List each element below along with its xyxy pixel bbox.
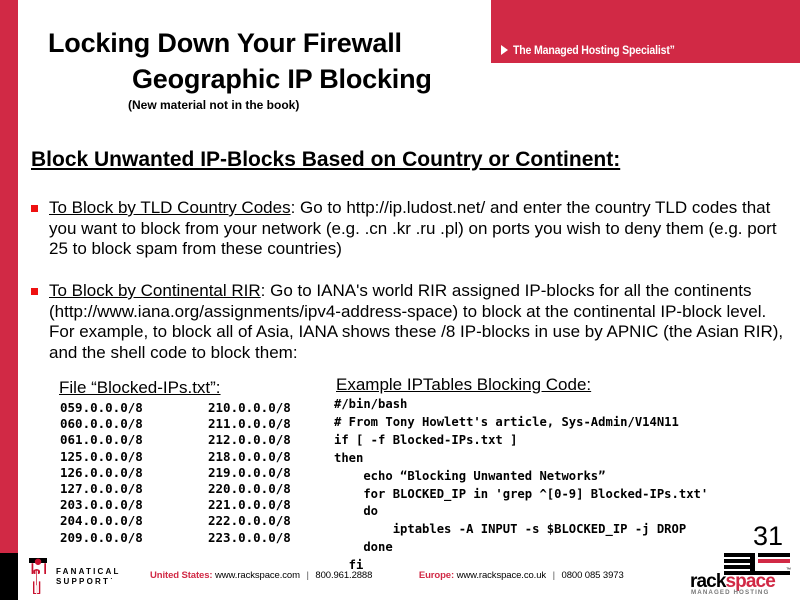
- ip-block-cell: 061.0.0.0/8: [60, 432, 208, 448]
- ip-block-row: 127.0.0.0/8220.0.0.0/8: [60, 481, 348, 497]
- rackspace-bars-icon: [724, 553, 790, 573]
- ip-block-cell: 220.0.0.0/8: [208, 481, 348, 497]
- shell-code-block: #/bin/bash # From Tony Howlett's article…: [334, 396, 708, 575]
- us-url[interactable]: www.rackspace.com: [215, 570, 300, 581]
- slide-title-line1: Locking Down Your Firewall: [48, 28, 402, 59]
- trademark-icon: ™: [786, 567, 791, 573]
- brand-tagline-text: The Managed Hosting Specialist”: [513, 43, 675, 57]
- ip-block-cell: 127.0.0.0/8: [60, 481, 208, 497]
- ip-block-row: 204.0.0.0/8222.0.0.0/8: [60, 513, 348, 529]
- eu-region-label: Europe:: [419, 570, 454, 581]
- ip-block-cell: 223.0.0.0/8: [208, 530, 348, 546]
- ip-block-row: 126.0.0.0/8219.0.0.0/8: [60, 465, 348, 481]
- ip-block-cell: 060.0.0.0/8: [60, 416, 208, 432]
- eu-url[interactable]: www.rackspace.co.uk: [457, 570, 546, 581]
- fanatical-figure-icon: [26, 558, 52, 594]
- ip-block-cell: 221.0.0.0/8: [208, 497, 348, 513]
- bullet-lead: To Block by TLD Country Codes: [49, 198, 291, 217]
- rackspace-logo: ™ rackspace MANAGED HOSTING: [690, 553, 792, 595]
- slide-title-line2: Geographic IP Blocking: [132, 64, 432, 95]
- left-accent-stripe-black: [0, 553, 18, 600]
- fanatical-support-logo: FANATICAL SUPPORT˙: [26, 558, 136, 594]
- section-heading: Block Unwanted IP-Blocks Based on Countr…: [31, 148, 620, 172]
- ip-block-cell: 126.0.0.0/8: [60, 465, 208, 481]
- file-listing-heading: File “Blocked-IPs.txt”:: [59, 378, 221, 398]
- contact-separator: |: [302, 570, 312, 581]
- bullet-text: To Block by Continental RIR: Go to IANA'…: [49, 281, 786, 363]
- ip-block-row: 060.0.0.0/8211.0.0.0/8: [60, 416, 348, 432]
- left-accent-stripe: [0, 0, 18, 553]
- footer-contact-info: United States: www.rackspace.com | 800.9…: [150, 570, 624, 581]
- slide-canvas: The Managed Hosting Specialist” Locking …: [0, 0, 800, 600]
- ip-block-row: 203.0.0.0/8221.0.0.0/8: [60, 497, 348, 513]
- fanatical-line2: SUPPORT˙: [56, 577, 121, 587]
- ip-block-cell: 219.0.0.0/8: [208, 465, 348, 481]
- bullet-item-rir: To Block by Continental RIR: Go to IANA'…: [31, 281, 786, 363]
- ip-block-cell: 209.0.0.0/8: [60, 530, 208, 546]
- fanatical-line1: FANATICAL: [56, 567, 121, 577]
- ip-block-cell: 210.0.0.0/8: [208, 400, 348, 416]
- eu-phone: 0800 085 3973: [562, 570, 624, 581]
- ip-block-cell: 218.0.0.0/8: [208, 449, 348, 465]
- play-triangle-icon: [501, 45, 508, 55]
- ip-block-cell: 204.0.0.0/8: [60, 513, 208, 529]
- brand-tagline: The Managed Hosting Specialist”: [501, 43, 697, 57]
- bullet-marker-icon: [31, 205, 38, 212]
- ip-block-cell: 203.0.0.0/8: [60, 497, 208, 513]
- page-number: 31: [753, 521, 783, 552]
- ip-block-cell: 222.0.0.0/8: [208, 513, 348, 529]
- slide-subtitle: (New material not in the book): [128, 98, 299, 112]
- ip-block-cell: 211.0.0.0/8: [208, 416, 348, 432]
- rackspace-sub-wordmark: MANAGED HOSTING: [691, 589, 769, 596]
- ip-block-row: 125.0.0.0/8218.0.0.0/8: [60, 449, 348, 465]
- bullet-lead: To Block by Continental RIR: [49, 281, 261, 300]
- ip-block-row: 209.0.0.0/8223.0.0.0/8: [60, 530, 348, 546]
- code-panel-heading: Example IPTables Blocking Code:: [336, 375, 591, 395]
- bullet-text: To Block by TLD Country Codes: Go to htt…: [49, 198, 786, 260]
- ip-block-row: 059.0.0.0/8210.0.0.0/8: [60, 400, 348, 416]
- us-region-label: United States:: [150, 570, 212, 581]
- ip-block-table: 059.0.0.0/8210.0.0.0/8060.0.0.0/8211.0.0…: [60, 400, 348, 546]
- contact-separator: |: [549, 570, 559, 581]
- ip-block-cell: 059.0.0.0/8: [60, 400, 208, 416]
- bullet-item-tld: To Block by TLD Country Codes: Go to htt…: [31, 198, 786, 260]
- fanatical-support-wordmark: FANATICAL SUPPORT˙: [56, 567, 121, 586]
- us-phone: 800.961.2888: [315, 570, 372, 581]
- ip-block-row: 061.0.0.0/8212.0.0.0/8: [60, 432, 348, 448]
- bullet-marker-icon: [31, 288, 38, 295]
- ip-block-cell: 125.0.0.0/8: [60, 449, 208, 465]
- ip-block-cell: 212.0.0.0/8: [208, 432, 348, 448]
